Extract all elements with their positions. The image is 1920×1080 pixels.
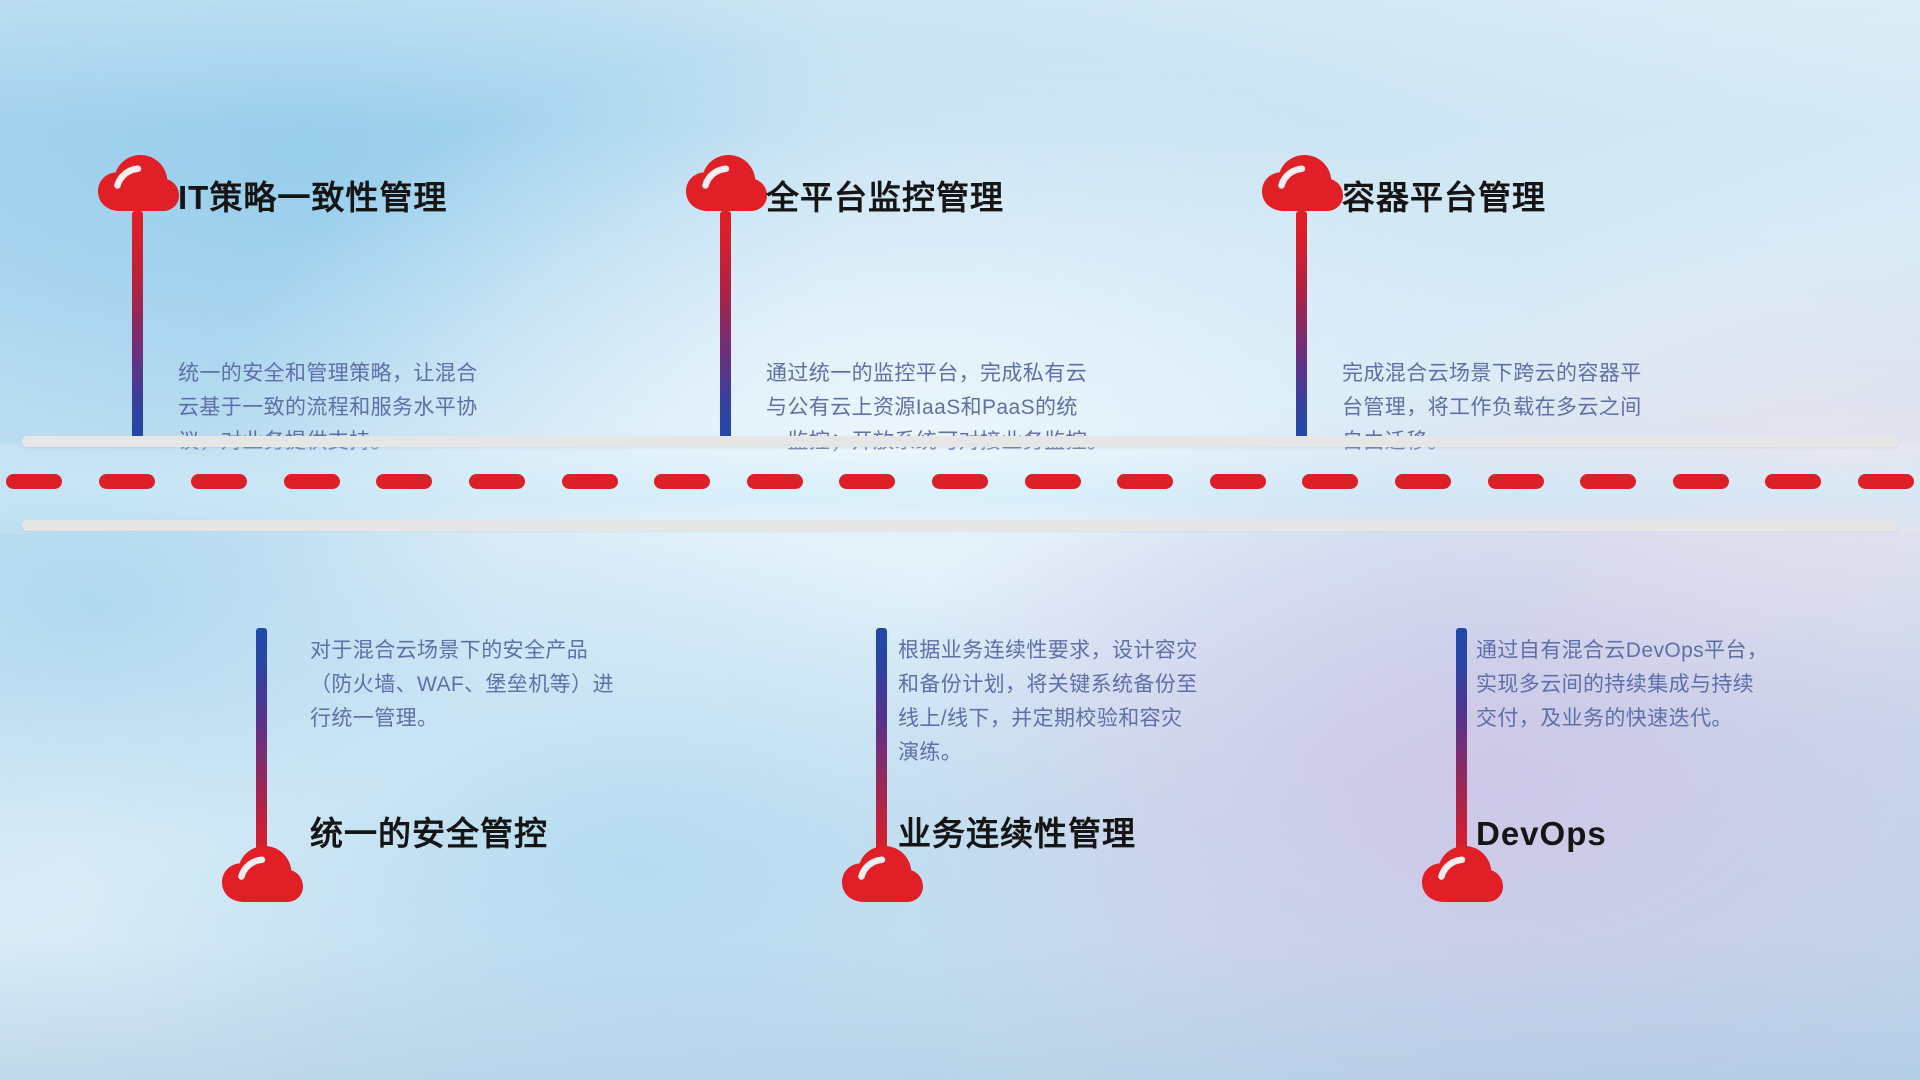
card-full-platform-monitoring: 全平台监控管理 通过统一的监控平台，完成私有云与公有云上资源IaaS和PaaS的…	[640, 0, 1280, 434]
item-title: 容器平台管理	[1342, 178, 1546, 218]
description-line: 实现多云间的持续集成与持续	[1476, 668, 1846, 702]
road-dash	[562, 474, 618, 489]
pin-stem	[132, 211, 143, 439]
cloud-icon	[840, 846, 924, 908]
item-title: IT策略一致性管理	[178, 178, 447, 218]
road-dash	[376, 474, 432, 489]
road-dash	[1580, 474, 1636, 489]
item-title: DevOps	[1476, 814, 1607, 854]
road-dash	[839, 474, 895, 489]
pin-stem	[876, 628, 887, 863]
item-title: 统一的安全管控	[310, 814, 548, 854]
description-line: 台管理，将工作负载在多云之间	[1342, 391, 1712, 425]
road-dash	[1025, 474, 1081, 489]
road-dash	[1395, 474, 1451, 489]
road-dash	[1302, 474, 1358, 489]
pin-stem	[1296, 211, 1307, 439]
road-line-bottom	[22, 520, 1898, 531]
road-divider	[0, 434, 1920, 544]
road-dash	[1488, 474, 1544, 489]
description-line: 和备份计划，将关键系统备份至	[898, 668, 1268, 702]
road-dash-strip	[0, 474, 1920, 489]
road-dash	[6, 474, 62, 489]
cloud-icon	[1260, 155, 1344, 217]
cloud-icon	[1420, 846, 1504, 908]
description-line: （防火墙、WAF、堡垒机等）进	[310, 668, 680, 702]
description-line: 线上/线下，并定期校验和容灾	[898, 702, 1268, 736]
road-dash	[932, 474, 988, 489]
item-title: 业务连续性管理	[898, 814, 1136, 854]
pin-stem	[720, 211, 731, 439]
bottom-row: 对于混合云场景下的安全产品（防火墙、WAF、堡垒机等）进行统一管理。 统一的安全…	[0, 544, 1920, 1080]
road-dash	[1117, 474, 1173, 489]
item-description: 根据业务连续性要求，设计容灾和备份计划，将关键系统备份至线上/线下，并定期校验和…	[898, 634, 1268, 770]
road-dash	[469, 474, 525, 489]
road-dash	[99, 474, 155, 489]
description-line: 演练。	[898, 736, 1268, 770]
road-dash	[1210, 474, 1266, 489]
top-row: IT策略一致性管理 统一的安全和管理策略，让混合云基于一致的流程和服务水平协议，…	[0, 0, 1920, 434]
card-it-policy-consistency: IT策略一致性管理 统一的安全和管理策略，让混合云基于一致的流程和服务水平协议，…	[0, 0, 640, 434]
road-dash	[1858, 474, 1914, 489]
road-dash	[284, 474, 340, 489]
description-line: 统一的安全和管理策略，让混合	[178, 357, 548, 391]
cloud-icon	[220, 846, 304, 908]
road-dash	[1673, 474, 1729, 489]
pin-stem	[256, 628, 267, 863]
description-line: 与公有云上资源IaaS和PaaS的统	[766, 391, 1156, 425]
item-title: 全平台监控管理	[766, 178, 1004, 218]
description-line: 通过自有混合云DevOps平台，	[1476, 634, 1846, 668]
card-devops: 通过自有混合云DevOps平台，实现多云间的持续集成与持续交付，及业务的快速迭代…	[1280, 544, 1920, 1080]
item-description: 对于混合云场景下的安全产品（防火墙、WAF、堡垒机等）进行统一管理。	[310, 634, 680, 736]
description-line: 行统一管理。	[310, 702, 680, 736]
cloud-icon	[96, 155, 180, 217]
description-line: 根据业务连续性要求，设计容灾	[898, 634, 1268, 668]
road-dash	[1765, 474, 1821, 489]
description-line: 云基于一致的流程和服务水平协	[178, 391, 548, 425]
card-business-continuity: 根据业务连续性要求，设计容灾和备份计划，将关键系统备份至线上/线下，并定期校验和…	[640, 544, 1280, 1080]
pin-stem	[1456, 628, 1467, 863]
road-line-top	[22, 436, 1898, 447]
road-dash	[191, 474, 247, 489]
road-dash	[654, 474, 710, 489]
description-line: 交付，及业务的快速迭代。	[1476, 702, 1846, 736]
card-container-platform: 容器平台管理 完成混合云场景下跨云的容器平台管理，将工作负载在多云之间自由迁移。	[1280, 0, 1920, 434]
cloud-icon	[684, 155, 768, 217]
description-line: 对于混合云场景下的安全产品	[310, 634, 680, 668]
description-line: 通过统一的监控平台，完成私有云	[766, 357, 1156, 391]
card-unified-security: 对于混合云场景下的安全产品（防火墙、WAF、堡垒机等）进行统一管理。 统一的安全…	[0, 544, 640, 1080]
item-description: 通过自有混合云DevOps平台，实现多云间的持续集成与持续交付，及业务的快速迭代…	[1476, 634, 1846, 736]
infographic-canvas: IT策略一致性管理 统一的安全和管理策略，让混合云基于一致的流程和服务水平协议，…	[0, 0, 1920, 1080]
description-line: 完成混合云场景下跨云的容器平	[1342, 357, 1712, 391]
road-dash	[747, 474, 803, 489]
